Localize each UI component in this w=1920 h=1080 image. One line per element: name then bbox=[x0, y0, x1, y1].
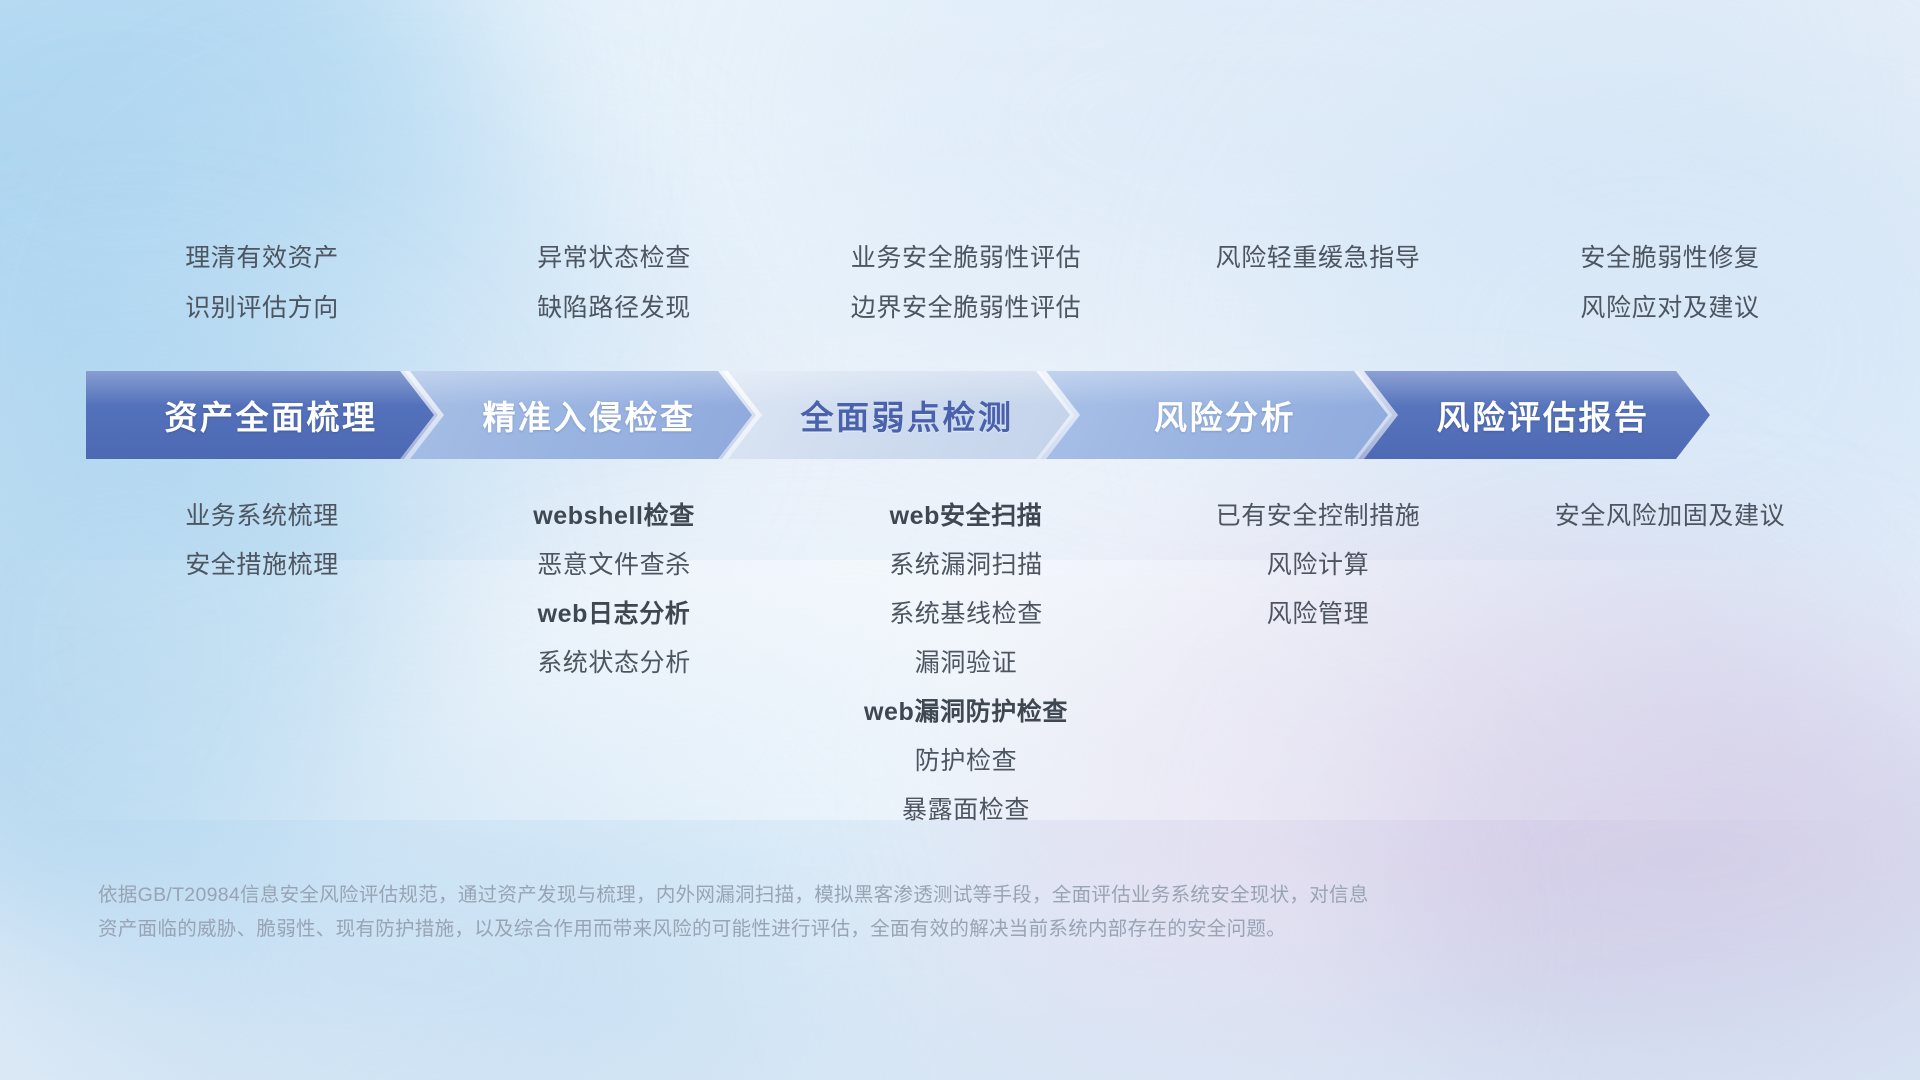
footer-line-2: 资产面临的威胁、脆弱性、现有防护措施，以及综合作用而带来风险的可能性进行评估，全… bbox=[98, 912, 1738, 946]
top-label: 安全脆弱性修复 bbox=[1494, 232, 1846, 284]
stage-arrow-intrusion-check[interactable]: 精准入侵检查 bbox=[404, 371, 756, 459]
list-item: 安全风险加固及建议 bbox=[1494, 492, 1846, 541]
list-item: web安全扫描 bbox=[790, 492, 1142, 541]
top-label: 风险应对及建议 bbox=[1494, 282, 1846, 334]
top-cell-asset-inventory: 识别评估方向 bbox=[86, 282, 438, 334]
stage-arrow-label: 资产全面梳理 bbox=[147, 391, 378, 439]
bottom-lists-row: 业务系统梳理 安全措施梳理 webshell检查 恶意文件查杀 web日志分析 … bbox=[86, 492, 1846, 835]
top-label: 风险轻重缓急指导 bbox=[1142, 232, 1494, 284]
top-cell-asset-inventory: 理清有效资产 bbox=[86, 232, 438, 284]
list-item: 风险计算 bbox=[1142, 541, 1494, 590]
top-cell-risk-report: 风险应对及建议 bbox=[1494, 282, 1846, 334]
top-cell-risk-analysis: 风险轻重缓急指导 bbox=[1142, 232, 1494, 284]
list-item: 业务系统梳理 bbox=[86, 492, 438, 541]
list-item: webshell检查 bbox=[438, 492, 790, 541]
stage-arrow-label: 风险评估报告 bbox=[1419, 391, 1650, 439]
top-label: 理清有效资产 bbox=[86, 232, 438, 284]
stage-arrow-label: 风险分析 bbox=[1136, 391, 1296, 439]
stage-arrow-asset-inventory[interactable]: 资产全面梳理 bbox=[86, 371, 438, 459]
top-cell-risk-report: 安全脆弱性修复 bbox=[1494, 232, 1846, 284]
list-item: 系统状态分析 bbox=[438, 639, 790, 688]
list-item: 已有安全控制措施 bbox=[1142, 492, 1494, 541]
stage-arrow-risk-analysis[interactable]: 风险分析 bbox=[1040, 371, 1392, 459]
top-label: 异常状态检查 bbox=[438, 232, 790, 284]
list-item: web日志分析 bbox=[438, 590, 790, 639]
top-label: 边界安全脆弱性评估 bbox=[790, 282, 1142, 334]
top-cell-intrusion-check: 缺陷路径发现 bbox=[438, 282, 790, 334]
stage-arrow-risk-report[interactable]: 风险评估报告 bbox=[1358, 371, 1710, 459]
list-item: 安全措施梳理 bbox=[86, 541, 438, 590]
list-item: 防护检查 bbox=[790, 737, 1142, 786]
bottom-list-risk-analysis: 已有安全控制措施 风险计算 风险管理 bbox=[1142, 492, 1494, 639]
footer-line-1: 依据GB/T20984信息安全风险评估规范，通过资产发现与梳理，内外网漏洞扫描，… bbox=[98, 878, 1738, 912]
slide-canvas: 理清有效资产 异常状态检查 业务安全脆弱性评估 风险轻重缓急指导 安全脆弱性修复… bbox=[0, 0, 1920, 1080]
top-cell-weakness-detection: 业务安全脆弱性评估 bbox=[790, 232, 1142, 284]
list-item: 恶意文件查杀 bbox=[438, 541, 790, 590]
list-item: 系统基线检查 bbox=[790, 590, 1142, 639]
top-cell-weakness-detection: 边界安全脆弱性评估 bbox=[790, 282, 1142, 334]
stage-arrow-label: 精准入侵检查 bbox=[465, 391, 696, 439]
top-cell-intrusion-check: 异常状态检查 bbox=[438, 232, 790, 284]
top-labels-row-2: 识别评估方向 缺陷路径发现 边界安全脆弱性评估 风险应对及建议 bbox=[86, 282, 1846, 334]
stage-arrow-label: 全面弱点检测 bbox=[783, 391, 1014, 439]
list-item: 漏洞验证 bbox=[790, 639, 1142, 688]
top-label: 识别评估方向 bbox=[86, 282, 438, 334]
bottom-list-weakness-detection: web安全扫描 系统漏洞扫描 系统基线检查 漏洞验证 web漏洞防护检查 防护检… bbox=[790, 492, 1142, 835]
bottom-list-intrusion-check: webshell检查 恶意文件查杀 web日志分析 系统状态分析 bbox=[438, 492, 790, 688]
top-label: 缺陷路径发现 bbox=[438, 282, 790, 334]
footer-description: 依据GB/T20984信息安全风险评估规范，通过资产发现与梳理，内外网漏洞扫描，… bbox=[98, 878, 1738, 946]
list-item: 系统漏洞扫描 bbox=[790, 541, 1142, 590]
top-labels-row-1: 理清有效资产 异常状态检查 业务安全脆弱性评估 风险轻重缓急指导 安全脆弱性修复 bbox=[86, 232, 1846, 284]
top-cell-risk-analysis bbox=[1142, 282, 1494, 334]
list-item: 暴露面检查 bbox=[790, 786, 1142, 835]
list-item: web漏洞防护检查 bbox=[790, 688, 1142, 737]
top-label: 业务安全脆弱性评估 bbox=[790, 232, 1142, 284]
stage-arrow-weakness-detection[interactable]: 全面弱点检测 bbox=[722, 371, 1074, 459]
bottom-list-asset-inventory: 业务系统梳理 安全措施梳理 bbox=[86, 492, 438, 590]
process-arrow-band: 资产全面梳理 精准入侵检查 全面弱点检测 风险分析 风险评估报告 bbox=[86, 371, 1846, 459]
bottom-list-risk-report: 安全风险加固及建议 bbox=[1494, 492, 1846, 541]
list-item: 风险管理 bbox=[1142, 590, 1494, 639]
